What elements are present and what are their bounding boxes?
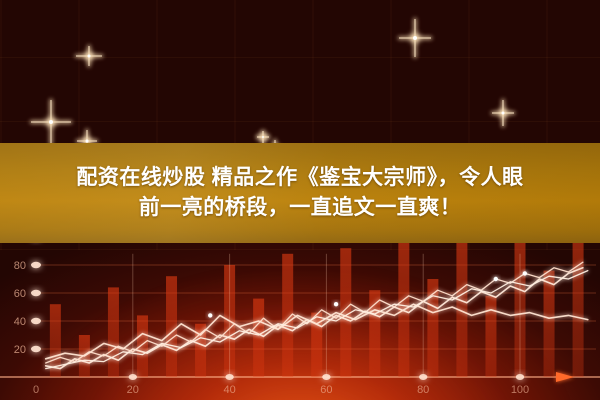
banner-line-2: 前一亮的桥段，一直追文一直爽！ xyxy=(139,195,462,221)
screenshot-stage: 20406080100020406080100 配资在线炒股 精品之作《鉴宝大宗… xyxy=(0,0,600,400)
svg-text:40: 40 xyxy=(223,384,235,396)
svg-text:80: 80 xyxy=(14,260,26,272)
svg-text:100: 100 xyxy=(511,384,529,396)
svg-text:80: 80 xyxy=(417,384,429,396)
title-banner: 配资在线炒股 精品之作《鉴宝大宗师》，令人眼 前一亮的桥段，一直追文一直爽！ xyxy=(0,143,600,243)
svg-text:20: 20 xyxy=(14,344,26,356)
svg-text:60: 60 xyxy=(14,288,26,300)
banner-text-block: 配资在线炒股 精品之作《鉴宝大宗师》，令人眼 前一亮的桥段，一直追文一直爽！ xyxy=(0,143,600,243)
banner-line-1: 配资在线炒股 精品之作《鉴宝大宗师》，令人眼 xyxy=(76,165,523,191)
svg-text:40: 40 xyxy=(14,316,26,328)
svg-text:60: 60 xyxy=(320,384,332,396)
svg-text:0: 0 xyxy=(33,384,39,396)
svg-text:20: 20 xyxy=(127,384,139,396)
